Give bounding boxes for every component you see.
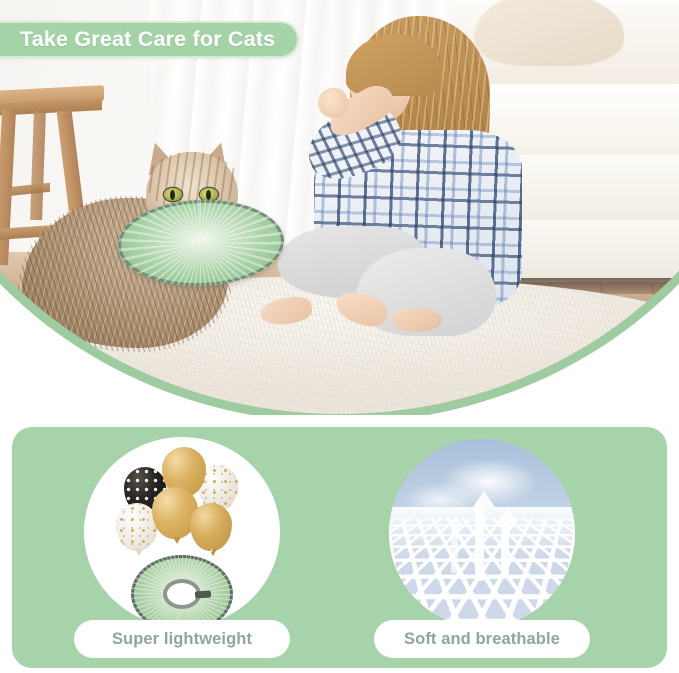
airflow-arrow-head — [447, 515, 465, 527]
balloons-icon — [112, 447, 254, 551]
feature-lightweight: Super lightweight — [32, 427, 332, 668]
girl-hair-front — [346, 34, 442, 96]
balloon-gold-bottom — [190, 503, 232, 551]
airflow-arrow-icon — [501, 521, 509, 575]
feature-label-text: Soft and breathable — [404, 630, 560, 649]
feature-label-lightweight: Super lightweight — [74, 620, 290, 658]
cat-pupil-left — [170, 190, 175, 200]
airflow-arrow-icon — [475, 505, 484, 581]
cat-pupil-right — [206, 190, 211, 200]
product-cone-icon — [131, 555, 233, 627]
girl — [300, 8, 550, 348]
airflow-arrow-head — [497, 509, 517, 523]
girl-hand-raised — [318, 88, 348, 118]
headline-banner: Take Great Care for Cats — [0, 21, 299, 58]
feature-breathable: Soft and breathable — [332, 427, 632, 668]
cat — [22, 152, 312, 352]
hero-photo-section: Take Great Care for Cats — [0, 0, 679, 415]
girl-foot-right — [392, 308, 442, 332]
cone-closure-clip — [195, 590, 211, 598]
airflow-arrow-head — [473, 491, 495, 507]
feature-label-breathable: Soft and breathable — [374, 620, 590, 658]
product-feature-image: Take Great Care for Cats — [0, 0, 679, 673]
lifestyle-photo — [0, 0, 679, 415]
mesh-fabric-icon — [389, 439, 575, 627]
feature-card: Super lightweight Soft and breathable — [12, 427, 667, 668]
feature-label-text: Super lightweight — [112, 630, 252, 649]
headline-text: Take Great Care for Cats — [20, 27, 275, 52]
airflow-arrow-icon — [451, 525, 458, 573]
lightweight-media-oval — [84, 437, 280, 627]
